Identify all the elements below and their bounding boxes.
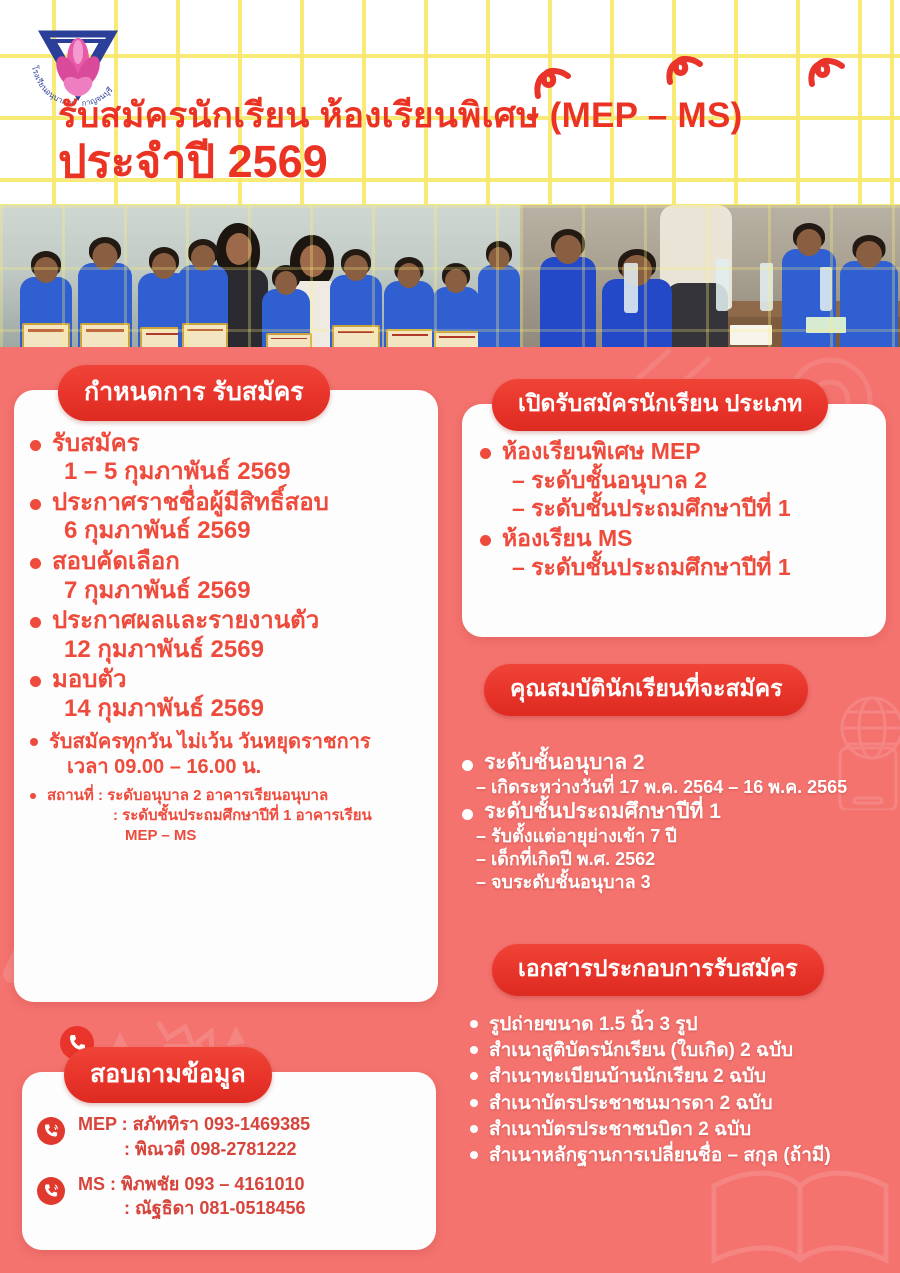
qualification-group: ระดับชั้นอนุบาล 2 – เกิดระหว่างวันที่ 17… <box>462 750 892 799</box>
document-item: สำเนาหลักฐานการเปลี่ยนชื่อ – สกุล (ถ้ามี… <box>470 1143 898 1169</box>
schedule-card: รับสมัคร 1 – 5 กุมภาพันธ์ 2569 ประกาศราช… <box>14 390 438 1002</box>
contact-heading: สอบถามข้อมูล <box>64 1047 272 1103</box>
bullet-dot <box>30 676 41 687</box>
header-band: โรงเรียนอนุบาลสกาง กาญจนบุรี รับสมัครนัก… <box>0 0 900 212</box>
bullet-dot <box>470 1020 478 1028</box>
document-label: สำเนาสูติบัตรนักเรียน (ใบเกิด) 2 ฉบับ <box>489 1038 793 1064</box>
phone-icon[interactable] <box>36 1176 66 1206</box>
documents-heading: เอกสารประกอบการรับสมัคร <box>492 944 824 996</box>
document-label: สำเนาหลักฐานการเปลี่ยนชื่อ – สกุล (ถ้ามี… <box>489 1143 831 1169</box>
schedule-place-line3: MEP – MS <box>47 826 372 846</box>
qualification-detail: – เด็กที่เกิดปี พ.ศ. 2562 <box>462 848 892 871</box>
contact-row-mep: MEP : สภัททิรา 093-1469385 : พิณวดี 098-… <box>36 1112 426 1162</box>
poster-title: รับสมัครนักเรียน ห้องเรียนพิเศษ (MEP – M… <box>58 98 888 187</box>
photo-band <box>0 205 900 357</box>
schedule-item-title: สอบคัดเลือก <box>52 548 180 576</box>
schedule-item: รับสมัคร 1 – 5 กุมภาพันธ์ 2569 <box>30 430 424 487</box>
documents-list: รูปถ่ายขนาด 1.5 นิ้ว 3 รูป สำเนาสูติบัตร… <box>470 1012 898 1169</box>
document-label: รูปถ่ายขนาด 1.5 นิ้ว 3 รูป <box>489 1012 698 1038</box>
qualification-title: ระดับชั้นอนุบาล 2 <box>484 750 645 776</box>
schedule-item: ประกาศผลและรายงานตัว 12 กุมภาพันธ์ 2569 <box>30 607 424 664</box>
document-item: สำเนาทะเบียนบ้านนักเรียน 2 ฉบับ <box>470 1064 898 1090</box>
bullet-dot <box>30 440 41 451</box>
contact-line-2: : ณัฐธิดา 081-0518456 <box>78 1196 306 1221</box>
schedule-item-date: 7 กุมภาพันธ์ 2569 <box>30 577 424 606</box>
poster-root: โรงเรียนอนุบาลสกาง กาญจนบุรี รับสมัครนัก… <box>0 0 900 1273</box>
bullet-dot <box>470 1072 478 1080</box>
schedule-heading: กำหนดการ รับสมัคร <box>58 365 330 421</box>
qualification-detail: – จบระดับชั้นอนุบาล 3 <box>462 871 892 894</box>
schedule-item-title: ประกาศผลและรายงานตัว <box>52 607 319 635</box>
phone-icon[interactable] <box>36 1116 66 1146</box>
bullet-dot <box>470 1125 478 1133</box>
bullet-dot <box>30 793 36 799</box>
contact-row-ms: MS : พิภพชัย 093 – 4161010 : ณัฐธิดา 081… <box>36 1172 426 1222</box>
type-group-title: ห้องเรียนพิเศษ MEP <box>502 438 701 466</box>
schedule-item-date: 14 กุมภาพันธ์ 2569 <box>30 695 424 724</box>
qualifications-heading: คุณสมบัตินักเรียนที่จะสมัคร <box>484 664 808 716</box>
schedule-item-date: 1 – 5 กุมภาพันธ์ 2569 <box>30 458 424 487</box>
schedule-item: สอบคัดเลือก 7 กุมภาพันธ์ 2569 <box>30 548 424 605</box>
schedule-note-line2: เวลา 09.00 – 16.00 น. <box>49 755 371 780</box>
qualification-detail: – รับตั้งแต่อายุย่างเข้า 7 ปี <box>462 825 892 848</box>
decorative-squiggles <box>520 46 880 102</box>
bullet-dot <box>30 558 41 569</box>
qualification-title: ระดับชั้นประถมศึกษาปีที่ 1 <box>484 799 721 825</box>
schedule-place-line2: : ระดับชั้นประถมศึกษาปีที่ 1 อาคารเรียน <box>47 806 372 826</box>
type-group: ห้องเรียน MS – ระดับชั้นประถมศึกษาปีที่ … <box>480 525 874 581</box>
bullet-dot <box>462 809 473 820</box>
contact-line-1: MEP : สภัททิรา 093-1469385 <box>78 1114 310 1134</box>
title-line-2: ประจำปี 2569 <box>58 137 888 187</box>
type-level: – ระดับชั้นอนุบาล 2 <box>480 466 874 495</box>
schedule-item-title: รับสมัคร <box>52 430 140 458</box>
document-label: สำเนาทะเบียนบ้านนักเรียน 2 ฉบับ <box>489 1064 766 1090</box>
contact-line-2: : พิณวดี 098-2781222 <box>78 1137 310 1162</box>
schedule-open-note: รับสมัครทุกวัน ไม่เว้น วันหยุดราชการ เวล… <box>30 730 424 780</box>
types-heading: เปิดรับสมัครนักเรียน ประเภท <box>492 379 828 431</box>
photo-students-certificates <box>0 205 520 357</box>
bullet-dot <box>480 448 491 459</box>
schedule-item-date: 6 กุมภาพันธ์ 2569 <box>30 517 424 546</box>
title-line-1: รับสมัครนักเรียน ห้องเรียนพิเศษ (MEP – M… <box>58 98 888 135</box>
bullet-dot <box>30 738 38 746</box>
document-label: สำเนาบัตรประชาชนบิดา 2 ฉบับ <box>489 1117 751 1143</box>
qualification-detail: – เกิดระหว่างวันที่ 17 พ.ค. 2564 – 16 พ.… <box>462 776 892 799</box>
schedule-item: ประกาศราชชื่อผู้มีสิทธิ์สอบ 6 กุมภาพันธ์… <box>30 489 424 546</box>
bullet-dot <box>462 760 473 771</box>
bullet-dot <box>470 1099 478 1107</box>
schedule-place-line1: สถานที่ : ระดับอนุบาล 2 อาคารเรียนอนุบาล <box>47 787 328 804</box>
contact-line-1: MS : พิภพชัย 093 – 4161010 <box>78 1174 304 1194</box>
schedule-note-line1: รับสมัครทุกวัน ไม่เว้น วันหยุดราชการ <box>49 731 371 753</box>
schedule-place-note: สถานที่ : ระดับอนุบาล 2 อาคารเรียนอนุบาล… <box>30 786 424 847</box>
types-card: ห้องเรียนพิเศษ MEP – ระดับชั้นอนุบาล 2 –… <box>462 404 886 637</box>
schedule-item-date: 12 กุมภาพันธ์ 2569 <box>30 636 424 665</box>
bullet-dot <box>470 1046 478 1054</box>
bullet-dot <box>30 617 41 628</box>
bullet-dot <box>480 535 491 546</box>
qualifications-list: ระดับชั้นอนุบาล 2 – เกิดระหว่างวันที่ 17… <box>462 750 892 895</box>
document-item: รูปถ่ายขนาด 1.5 นิ้ว 3 รูป <box>470 1012 898 1038</box>
schedule-item: มอบตัว 14 กุมภาพันธ์ 2569 <box>30 666 424 723</box>
document-item: สำเนาบัตรประชาชนบิดา 2 ฉบับ <box>470 1117 898 1143</box>
document-label: สำเนาบัตรประชาชนมารดา 2 ฉบับ <box>489 1091 773 1117</box>
bullet-dot <box>470 1151 478 1159</box>
document-item: สำเนาบัตรประชาชนมารดา 2 ฉบับ <box>470 1091 898 1117</box>
type-group: ห้องเรียนพิเศษ MEP – ระดับชั้นอนุบาล 2 –… <box>480 438 874 523</box>
qualification-group: ระดับชั้นประถมศึกษาปีที่ 1 – รับตั้งแต่อ… <box>462 799 892 895</box>
document-item: สำเนาสูติบัตรนักเรียน (ใบเกิด) 2 ฉบับ <box>470 1038 898 1064</box>
type-level: – ระดับชั้นประถมศึกษาปีที่ 1 <box>480 494 874 523</box>
schedule-item-title: ประกาศราชชื่อผู้มีสิทธิ์สอบ <box>52 489 329 517</box>
type-level: – ระดับชั้นประถมศึกษาปีที่ 1 <box>480 553 874 582</box>
photo-classroom-activity <box>520 205 900 357</box>
schedule-item-title: มอบตัว <box>52 666 127 694</box>
bullet-dot <box>30 499 41 510</box>
type-group-title: ห้องเรียน MS <box>502 525 633 553</box>
